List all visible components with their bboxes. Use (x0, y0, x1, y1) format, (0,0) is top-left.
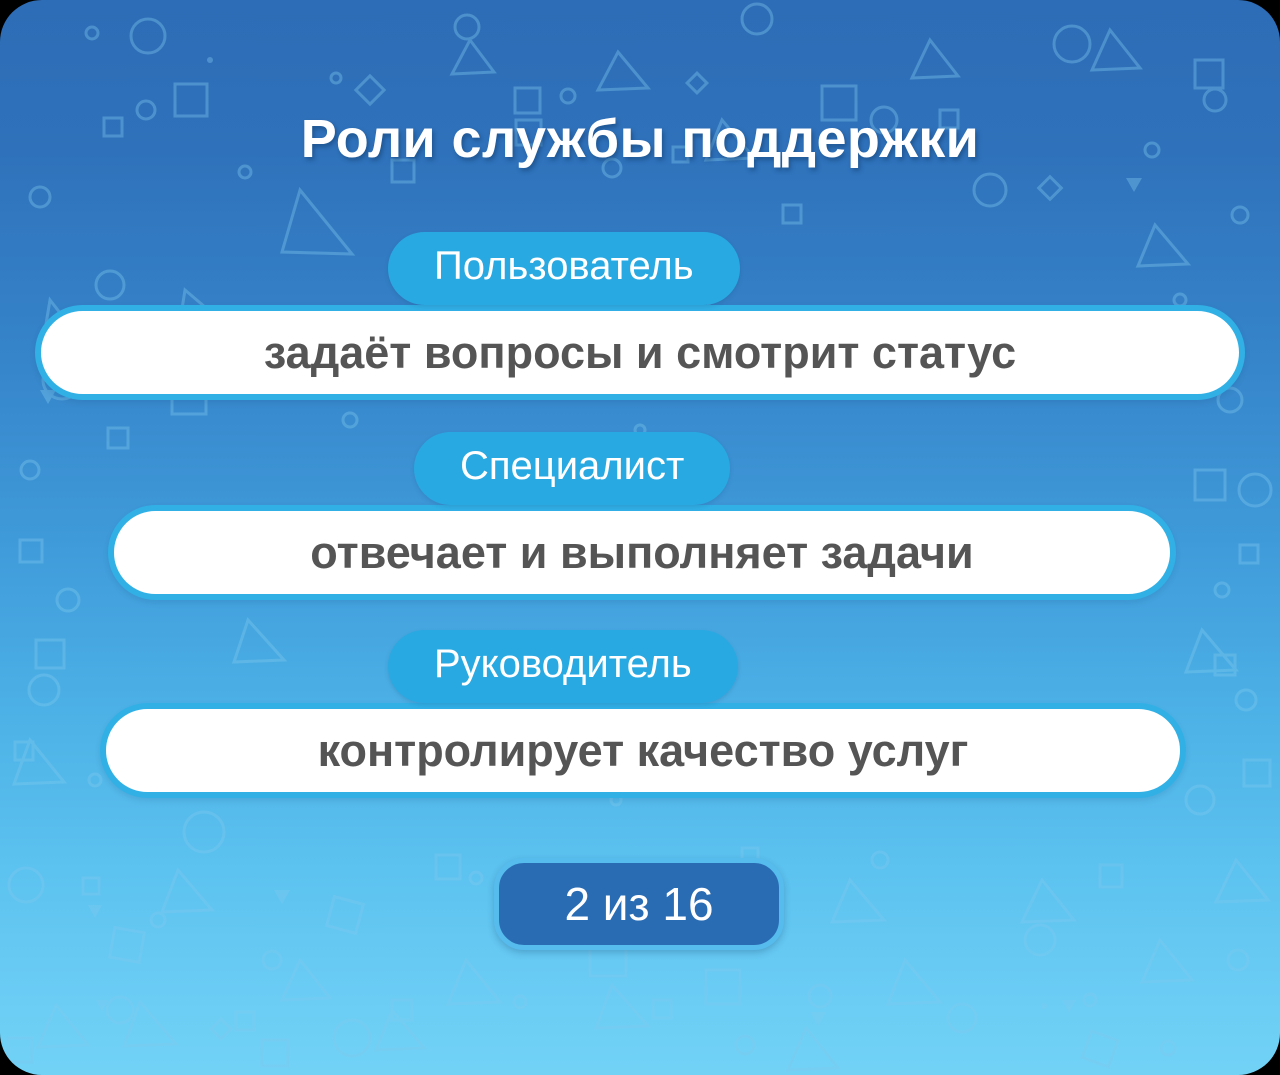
role-description-pill: задаёт вопросы и смотрит статус (35, 305, 1245, 400)
role-badge-manager: Руководитель (388, 630, 738, 703)
role-group-specialist: отвечает и выполняет задачи Специалист (0, 432, 1280, 622)
role-description-pill: контролирует качество услуг (100, 703, 1186, 798)
slide-card: Роли службы поддержки задаёт вопросы и с… (0, 0, 1280, 1075)
role-group-user: задаёт вопросы и смотрит статус Пользова… (0, 232, 1280, 422)
role-badge-user: Пользователь (388, 232, 740, 305)
role-badge-specialist: Специалист (414, 432, 730, 505)
role-description-pill: отвечает и выполняет задачи (108, 505, 1176, 600)
role-group-manager: контролирует качество услуг Руководитель (0, 630, 1280, 820)
page-title: Роли службы поддержки (0, 108, 1280, 170)
slide-counter-badge: 2 из 16 (494, 858, 784, 950)
